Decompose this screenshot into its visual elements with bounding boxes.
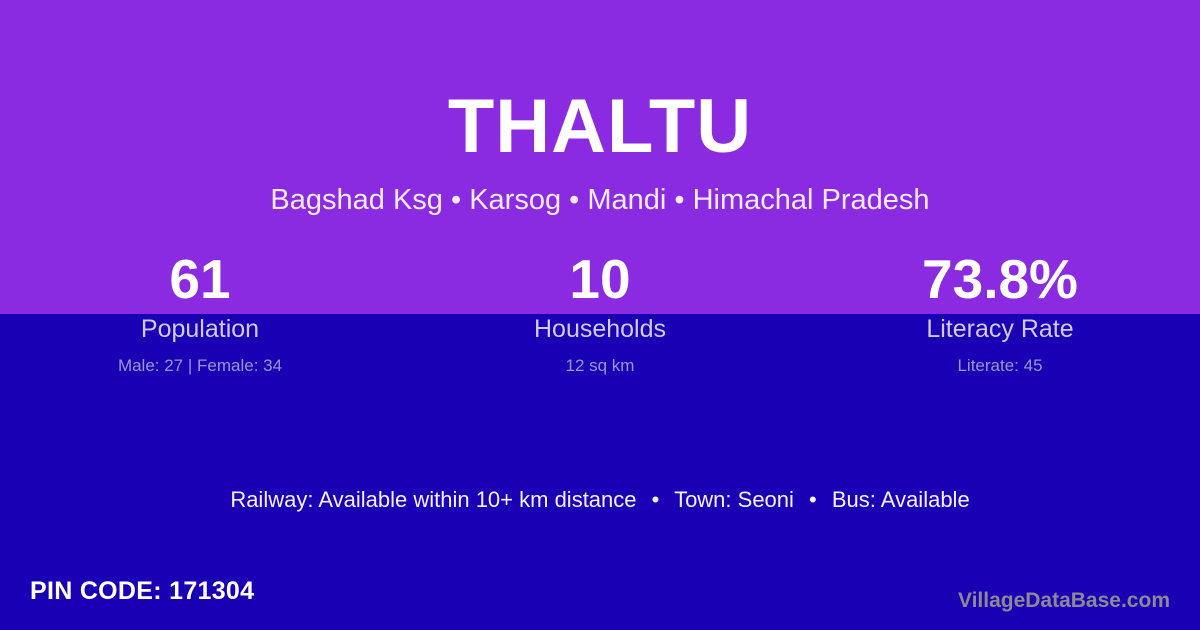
breadcrumb-location: Bagshad Ksg • Karsog • Mandi • Himachal … xyxy=(0,182,1200,218)
stat-households-sub: 12 sq km xyxy=(400,355,800,377)
bullet-separator-icon: • xyxy=(800,487,826,512)
stat-literacy-value: 73.8% xyxy=(800,248,1200,310)
stat-literacy-label: Literacy Rate xyxy=(800,313,1200,345)
stat-households: 10 Households 12 sq km xyxy=(400,248,800,377)
site-brand: VillageDataBase.com xyxy=(958,588,1170,614)
bullet-separator-icon: • xyxy=(643,487,669,512)
stat-population: 61 Population Male: 27 | Female: 34 xyxy=(0,248,400,377)
stat-literacy-sub: Literate: 45 xyxy=(800,355,1200,377)
amenity-railway: Railway: Available within 10+ km distanc… xyxy=(230,487,636,512)
stat-literacy: 73.8% Literacy Rate Literate: 45 xyxy=(800,248,1200,377)
pincode-label: PIN CODE: 171304 xyxy=(30,575,254,607)
stat-population-label: Population xyxy=(0,313,400,345)
stats-row: 61 Population Male: 27 | Female: 34 10 H… xyxy=(0,248,1200,377)
amenity-town: Town: Seoni xyxy=(674,487,794,512)
stat-population-sub: Male: 27 | Female: 34 xyxy=(0,355,400,377)
page-title: THALTU xyxy=(0,84,1200,170)
stat-population-value: 61 xyxy=(0,248,400,310)
amenities-row: Railway: Available within 10+ km distanc… xyxy=(0,485,1200,515)
stat-households-value: 10 xyxy=(400,248,800,310)
stat-households-label: Households xyxy=(400,313,800,345)
amenity-bus: Bus: Available xyxy=(832,487,970,512)
village-info-card: THALTU Bagshad Ksg • Karsog • Mandi • Hi… xyxy=(0,0,1200,630)
